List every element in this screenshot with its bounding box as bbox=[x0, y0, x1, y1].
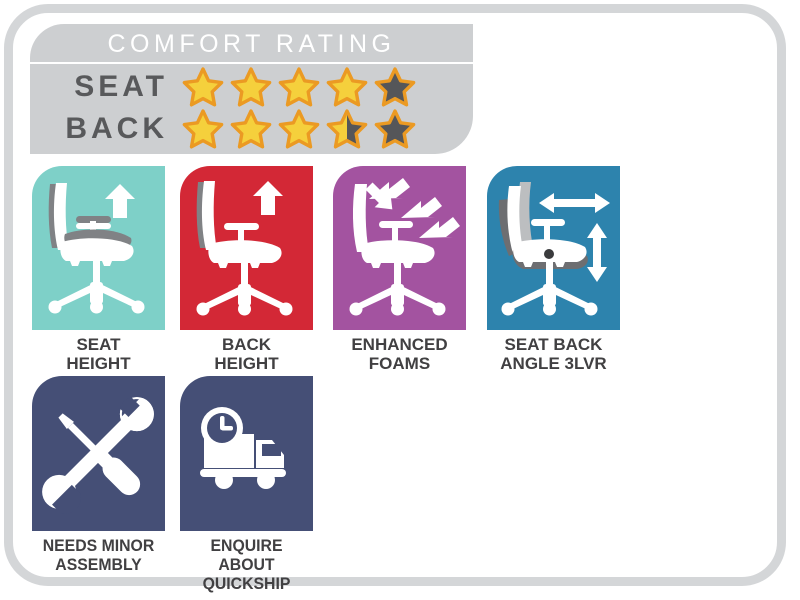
feature-label-enhanced-foams: ENHANCED FOAMS bbox=[333, 335, 466, 373]
feature-tile-enquire-about-quickship[interactable]: ENQUIRE ABOUT QUICKSHIP bbox=[180, 376, 313, 593]
office-chair-double-arrows-icon bbox=[487, 166, 620, 330]
feature-tile-needs-minor-assembly[interactable]: NEEDS MINOR ASSEMBLY bbox=[32, 376, 165, 574]
star-seat-5-empty bbox=[374, 66, 416, 108]
office-chair-backrest-up-arrow-icon bbox=[180, 166, 313, 330]
office-chair-up-arrow-icon bbox=[32, 166, 165, 330]
rating-label-seat: SEAT bbox=[30, 70, 182, 104]
comfort-rating-title: COMFORT RATING bbox=[30, 29, 473, 59]
feature-label-seat-back-angle: SEAT BACK ANGLE 3LVR bbox=[487, 335, 620, 373]
rating-label-back: BACK bbox=[30, 112, 182, 146]
rating-stars-back bbox=[182, 108, 416, 150]
rating-row-back: BACK bbox=[30, 108, 473, 150]
office-chair-inward-arrows-icon bbox=[333, 166, 466, 330]
comfort-rating-stars-panel: SEAT BACK bbox=[30, 64, 473, 154]
star-back-4-half bbox=[326, 108, 368, 150]
rating-stars-seat bbox=[182, 66, 416, 108]
star-back-2-full bbox=[230, 108, 272, 150]
wrench-screwdriver-icon bbox=[32, 376, 165, 531]
comfort-rating-header: COMFORT RATING bbox=[30, 24, 473, 62]
star-seat-3-full bbox=[278, 66, 320, 108]
feature-art-enhanced-foams bbox=[333, 166, 466, 330]
star-back-5-empty bbox=[374, 108, 416, 150]
feature-art-enquire-about-quickship bbox=[180, 376, 313, 531]
star-seat-1-full bbox=[182, 66, 224, 108]
feature-art-back-height bbox=[180, 166, 313, 330]
feature-art-seat-back-angle bbox=[487, 166, 620, 330]
feature-art-needs-minor-assembly bbox=[32, 376, 165, 531]
feature-label-seat-height: SEAT HEIGHT bbox=[32, 335, 165, 373]
feature-label-needs-minor-assembly: NEEDS MINOR ASSEMBLY bbox=[37, 536, 161, 574]
rating-row-seat: SEAT bbox=[30, 66, 473, 108]
comfort-rating-panel: COMFORT RATING SEAT BACK bbox=[30, 24, 473, 154]
star-back-3-full bbox=[278, 108, 320, 150]
feature-label-back-height: BACK HEIGHT bbox=[180, 335, 313, 373]
star-seat-2-full bbox=[230, 66, 272, 108]
truck-clock-icon bbox=[180, 376, 313, 531]
feature-tile-back-height[interactable]: BACK HEIGHT bbox=[180, 166, 313, 373]
feature-label-enquire-about-quickship: ENQUIRE ABOUT QUICKSHIP bbox=[185, 536, 309, 593]
feature-tile-enhanced-foams[interactable]: ENHANCED FOAMS bbox=[333, 166, 466, 373]
star-back-1-full bbox=[182, 108, 224, 150]
feature-tile-seat-back-angle[interactable]: SEAT BACK ANGLE 3LVR bbox=[487, 166, 620, 373]
star-seat-4-full bbox=[326, 66, 368, 108]
feature-tile-seat-height[interactable]: SEAT HEIGHT bbox=[32, 166, 165, 373]
feature-art-seat-height bbox=[32, 166, 165, 330]
